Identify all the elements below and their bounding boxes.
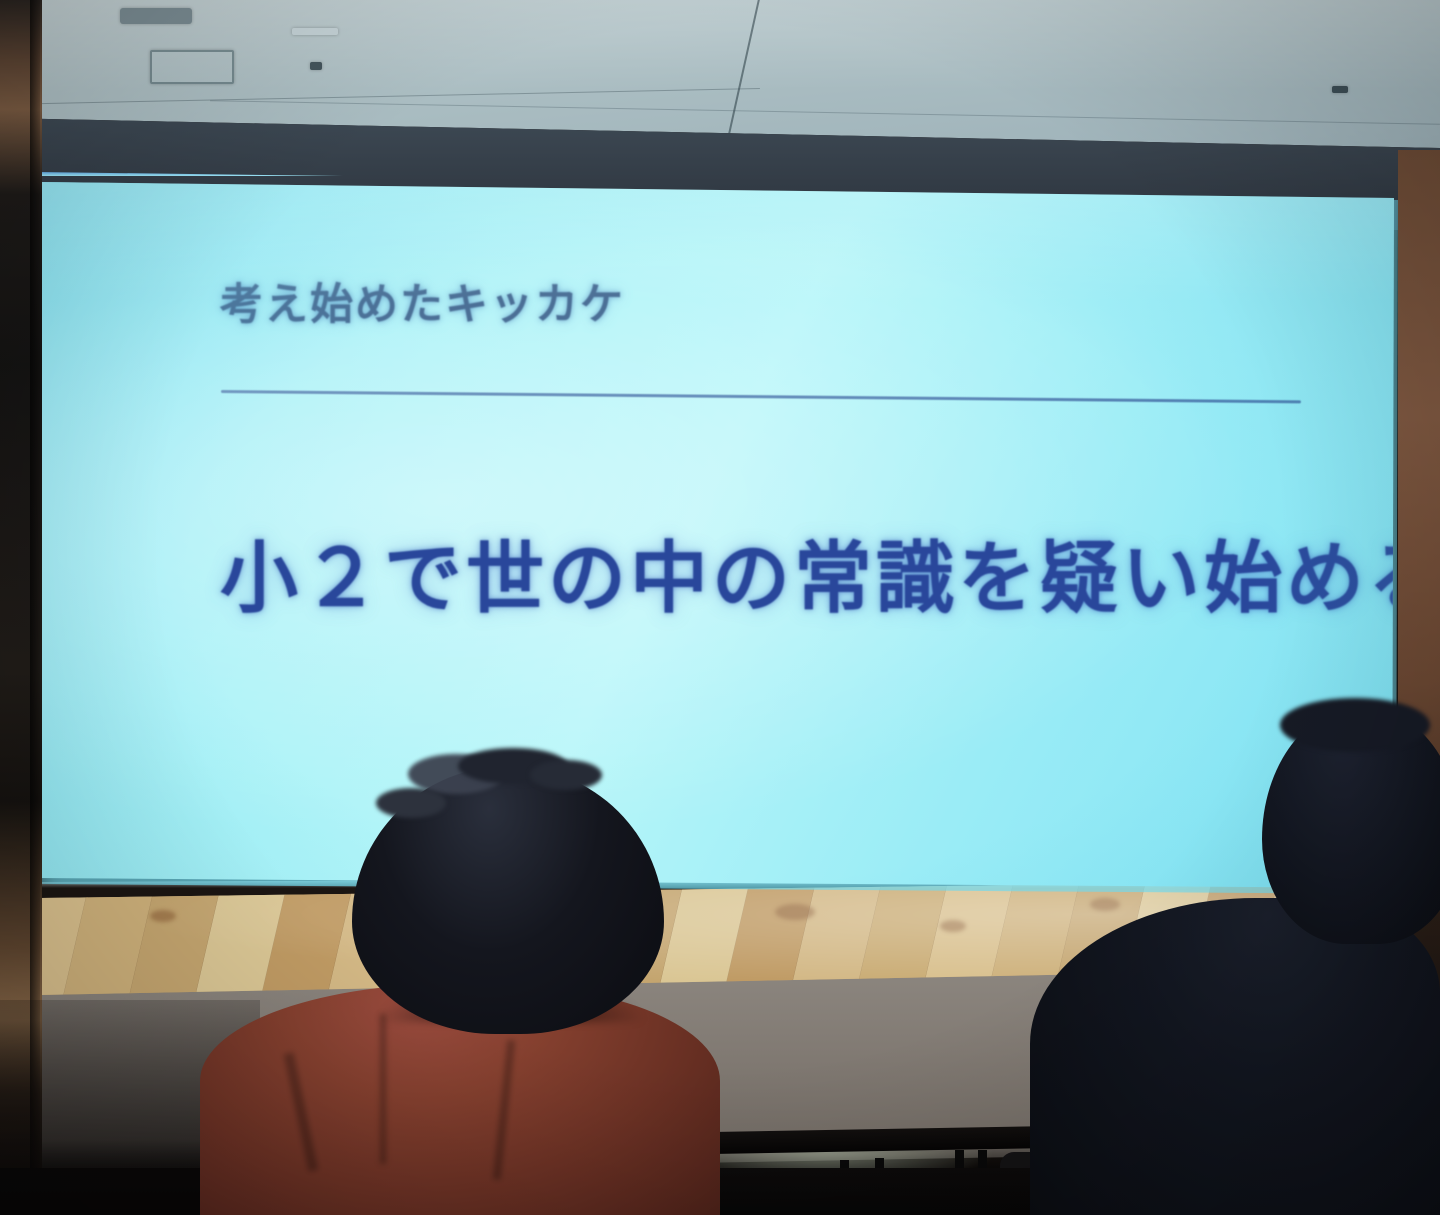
viewer-right-shoulders <box>1030 898 1440 1215</box>
viewer-right-hair <box>1280 698 1430 752</box>
viewer-left-hair-tuft <box>530 760 602 790</box>
ceiling-sensor-icon <box>310 62 322 70</box>
ceiling-vent-icon <box>120 8 192 24</box>
ceiling-light-strip-icon <box>292 28 338 35</box>
viewer-left-hair-tuft <box>376 788 446 818</box>
ceiling-panel-outline <box>150 50 234 84</box>
viewer-front-right <box>1030 700 1440 1215</box>
viewer-left-hood-fold <box>380 1014 386 1164</box>
slide-heading: 考え始めたキッカケ <box>220 270 625 332</box>
slide-divider-rule <box>221 390 1301 403</box>
viewer-front-left <box>200 752 720 1215</box>
slide-title: 小２で世の中の常識を疑い始める <box>220 516 1396 628</box>
presentation-photo-scene: 考え始めたキッカケ 小２で世の中の常識を疑い始める <box>0 0 1440 1215</box>
ceiling-speaker-icon <box>1332 86 1348 93</box>
